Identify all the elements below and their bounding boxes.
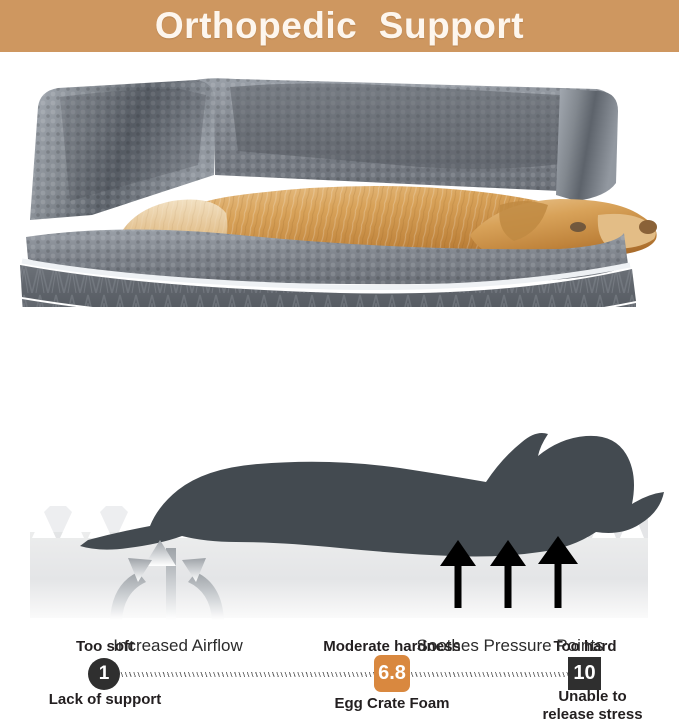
pressure-label: Soothes Pressure Points [380, 636, 640, 656]
foam-diagram [0, 420, 679, 660]
dog-nose [639, 220, 657, 234]
scale-min-caption: Lack of support [10, 691, 200, 709]
page-title: Orthopedic Support [0, 0, 679, 52]
bed-bolster-right [556, 89, 618, 201]
scale-max-marker: 10 [568, 657, 601, 690]
foam-diagram-illustration [0, 420, 679, 660]
scale-max-caption-line1: Unable to [510, 688, 675, 706]
product-photo-illustration [0, 55, 679, 307]
scale-min-marker: 1 [88, 658, 120, 690]
scale-mid-marker: 6.8 [374, 655, 410, 692]
dog-eye [570, 222, 586, 232]
airflow-label: Increased Airflow [72, 636, 284, 656]
scale-max-caption-line2: release stress [510, 706, 675, 723]
scale-mid-caption: Egg Crate Foam [292, 695, 492, 713]
dog-silhouette [80, 433, 664, 557]
product-photo [0, 55, 679, 307]
scale-max-caption: Unable to release stress [510, 688, 675, 723]
hardness-scale: Too soft 1 Lack of support Moderate hard… [0, 310, 679, 420]
scale-track [118, 672, 568, 677]
